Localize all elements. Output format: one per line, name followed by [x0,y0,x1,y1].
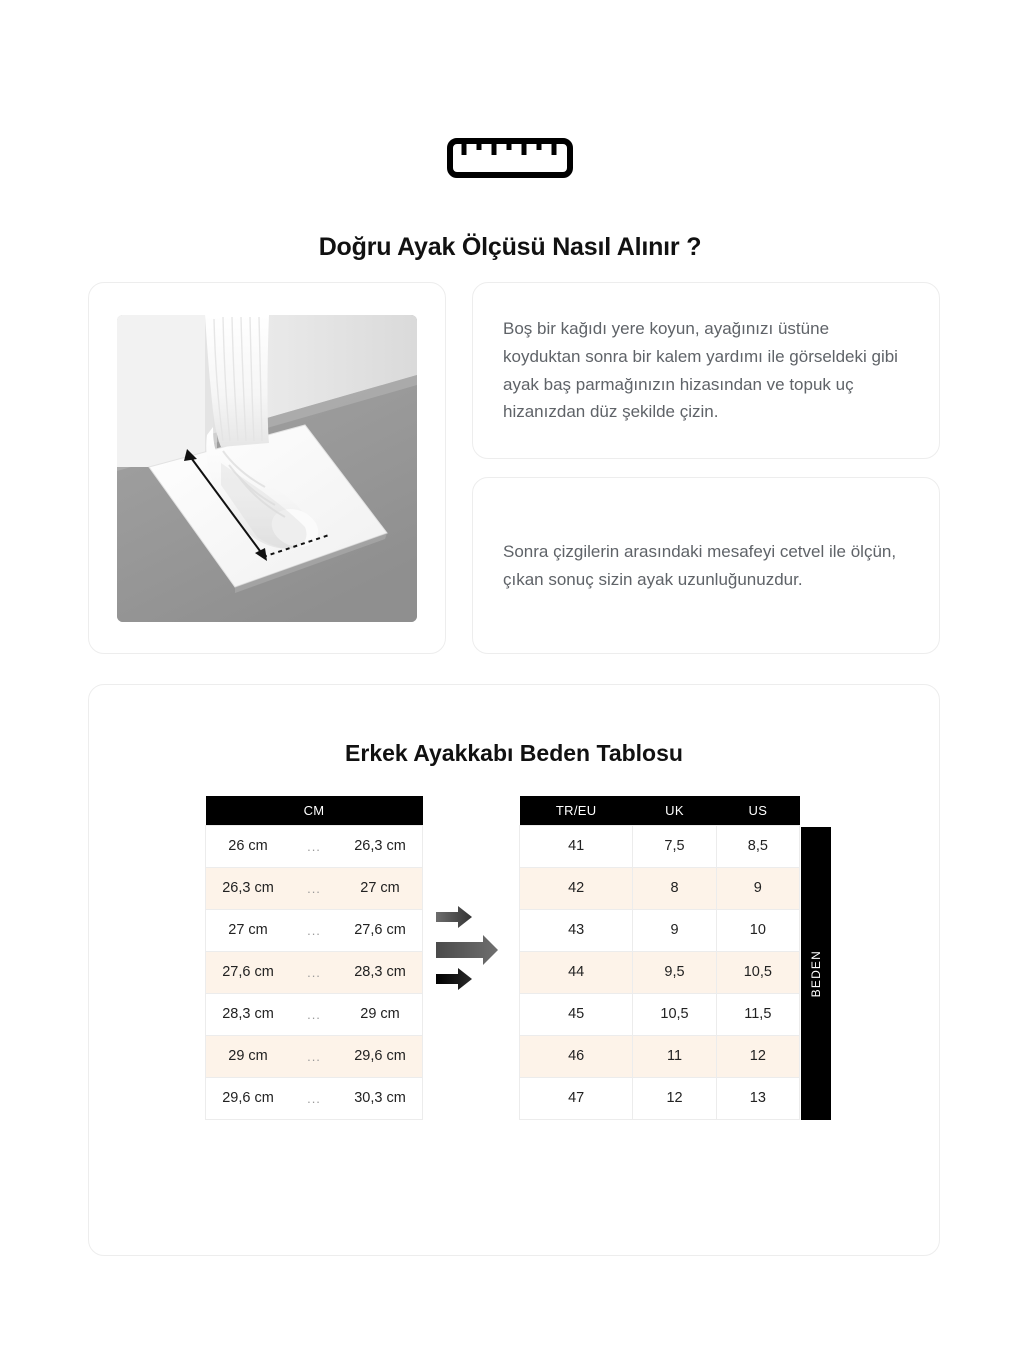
size-uk: 8 [633,867,716,909]
arrow-right-icon [436,968,472,990]
size-treu: 47 [520,1077,633,1119]
table-row: 27,6 cm ... 28,3 cm [206,951,423,993]
cm-separator: ... [290,825,338,867]
size-uk: 7,5 [633,825,716,867]
cm-to: 30,3 cm [338,1077,423,1119]
size-treu: 42 [520,867,633,909]
table-row: 29 cm ... 29,6 cm [206,1035,423,1077]
cm-separator: ... [290,867,338,909]
cm-table-header: CM [206,796,423,825]
size-table-title: Erkek Ayakkabı Beden Tablosu [89,740,939,767]
cm-separator: ... [290,909,338,951]
table-row: 46 11 12 [520,1035,800,1077]
size-uk: 9,5 [633,951,716,993]
cm-range-table: CM 26 cm ... 26,3 cm 26,3 cm ... 27 cm 2… [205,796,423,1120]
size-us: 11,5 [716,993,799,1035]
cm-from: 27,6 cm [206,951,291,993]
beden-side-label: BEDEN [801,827,831,1120]
size-table-header-row: TR/EU UK US [520,796,800,825]
size-header-us: US [716,796,799,825]
cm-from: 26,3 cm [206,867,291,909]
table-row: 26,3 cm ... 27 cm [206,867,423,909]
cm-to: 26,3 cm [338,825,423,867]
size-treu: 43 [520,909,633,951]
cm-from: 28,3 cm [206,993,291,1035]
size-us: 13 [716,1077,799,1119]
table-row: 42 8 9 [520,867,800,909]
ruler-icon [447,138,573,178]
size-tables-area: CM 26 cm ... 26,3 cm 26,3 cm ... 27 cm 2… [89,796,939,1136]
table-row: 43 9 10 [520,909,800,951]
table-row: 29,6 cm ... 30,3 cm [206,1077,423,1119]
size-uk: 11 [633,1035,716,1077]
table-row: 47 12 13 [520,1077,800,1119]
foot-measurement-photo [117,315,417,622]
instruction-text-1: Boş bir kağıdı yere koyun, ayağınızı üst… [503,315,903,425]
size-treu: 41 [520,825,633,867]
cm-to: 29,6 cm [338,1035,423,1077]
table-row: 45 10,5 11,5 [520,993,800,1035]
table-row: 44 9,5 10,5 [520,951,800,993]
size-us: 10 [716,909,799,951]
cm-from: 29 cm [206,1035,291,1077]
size-header-uk: UK [633,796,716,825]
size-header-treu: TR/EU [520,796,633,825]
cm-to: 29 cm [338,993,423,1035]
cm-separator: ... [290,951,338,993]
table-row: 41 7,5 8,5 [520,825,800,867]
beden-label-text: BEDEN [809,950,823,997]
arrow-right-icon [436,906,472,928]
cm-to: 28,3 cm [338,951,423,993]
size-uk: 12 [633,1077,716,1119]
size-us: 8,5 [716,825,799,867]
size-us: 9 [716,867,799,909]
arrow-right-icon [436,935,498,965]
size-treu: 46 [520,1035,633,1077]
size-table-card: Erkek Ayakkabı Beden Tablosu CM 26 cm ..… [88,684,940,1256]
instruction-card-2: Sonra çizgilerin arasındaki mesafeyi cet… [472,477,940,654]
instruction-cards: Boş bir kağıdı yere koyun, ayağınızı üst… [472,282,940,654]
cm-separator: ... [290,993,338,1035]
table-row: 28,3 cm ... 29 cm [206,993,423,1035]
instruction-card-1: Boş bir kağıdı yere koyun, ayağınızı üst… [472,282,940,459]
size-us: 10,5 [716,951,799,993]
ruler-icon-container [0,138,1020,178]
size-uk: 10,5 [633,993,716,1035]
size-treu: 45 [520,993,633,1035]
cm-from: 29,6 cm [206,1077,291,1119]
size-treu: 44 [520,951,633,993]
cm-table-header-row: CM [206,796,423,825]
cm-from: 26 cm [206,825,291,867]
table-row: 26 cm ... 26,3 cm [206,825,423,867]
instructions-row: Boş bir kağıdı yere koyun, ayağınızı üst… [88,282,940,654]
size-uk: 9 [633,909,716,951]
cm-to: 27 cm [338,867,423,909]
page-title: Doğru Ayak Ölçüsü Nasıl Alınır ? [0,233,1020,262]
cm-separator: ... [290,1035,338,1077]
photo-card [88,282,446,654]
cm-separator: ... [290,1077,338,1119]
conversion-arrows [434,904,512,996]
cm-to: 27,6 cm [338,909,423,951]
instruction-text-2: Sonra çizgilerin arasındaki mesafeyi cet… [503,538,903,593]
cm-from: 27 cm [206,909,291,951]
table-row: 27 cm ... 27,6 cm [206,909,423,951]
shoe-size-table: TR/EU UK US 41 7,5 8,5 42 8 9 43 [519,796,800,1120]
size-us: 12 [716,1035,799,1077]
